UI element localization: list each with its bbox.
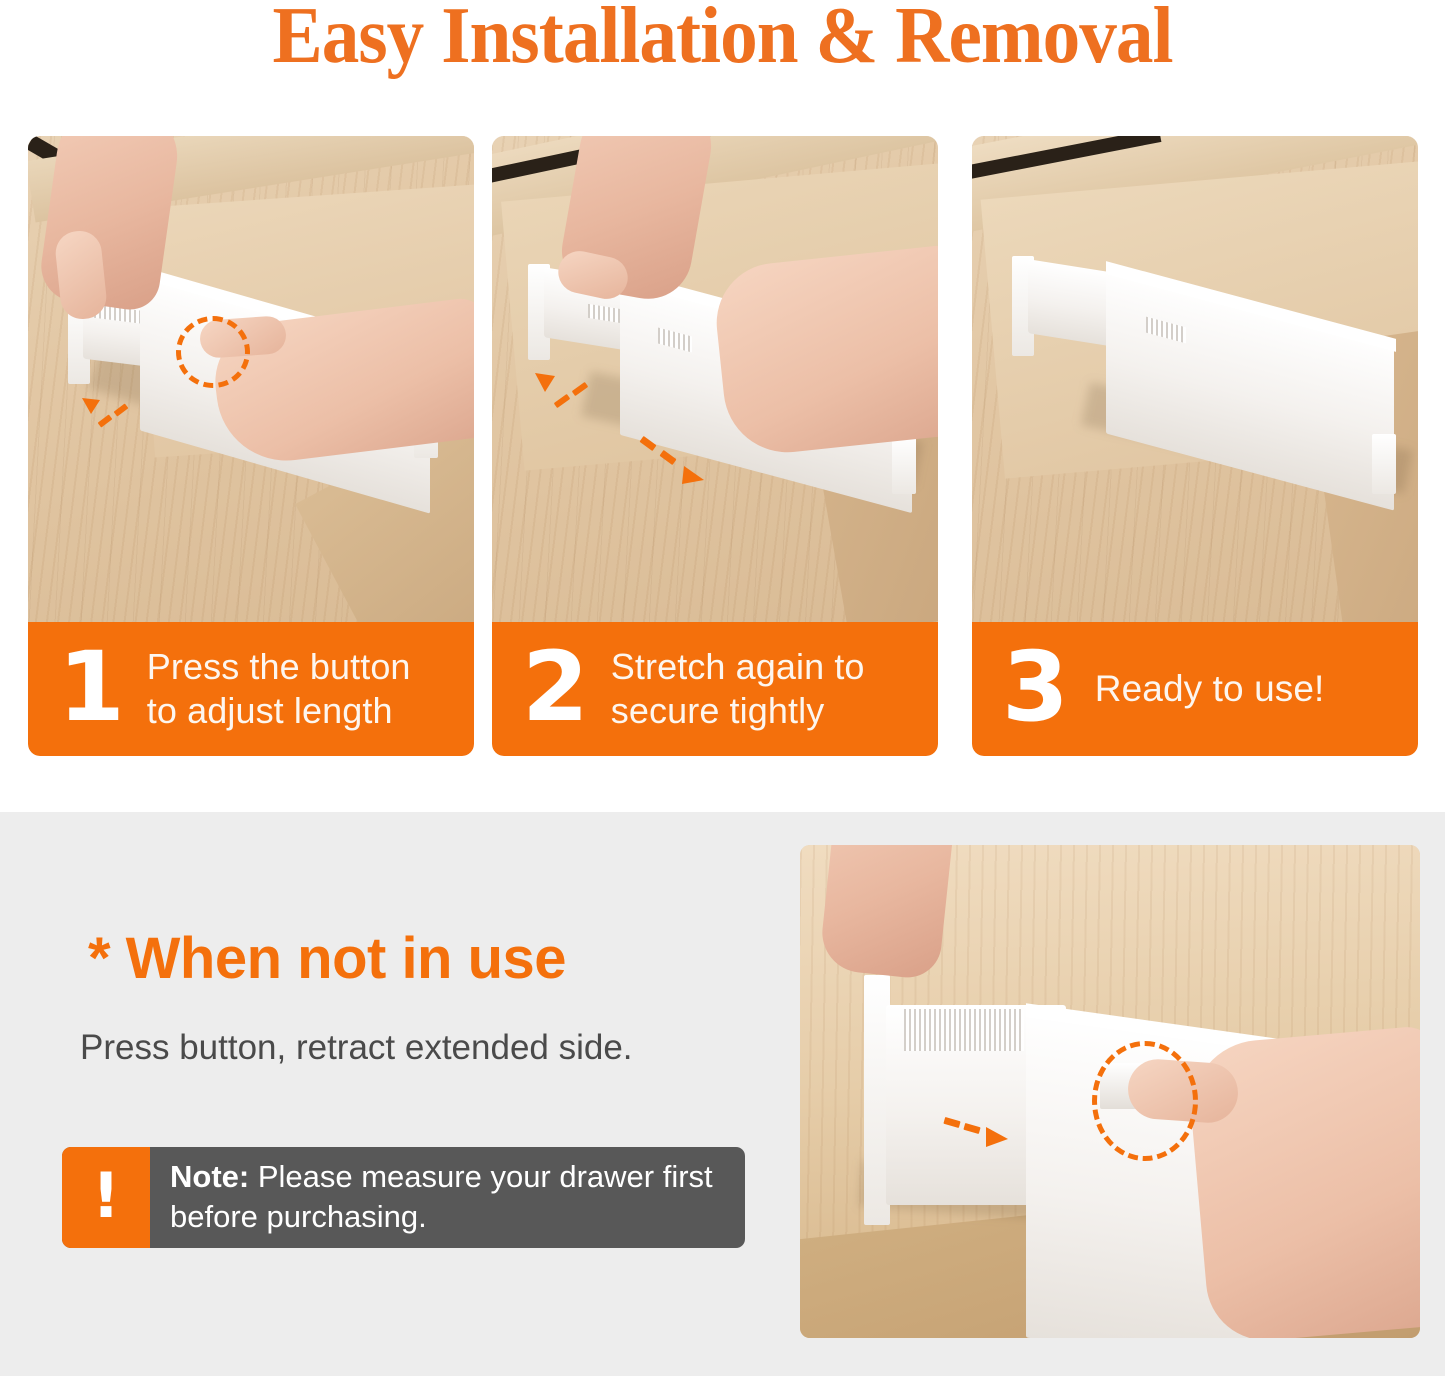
step-card-1: 1 Press the button to adjust length: [28, 136, 474, 756]
step-2-number: 2: [522, 639, 589, 735]
hand-left: [818, 845, 957, 981]
exclamation-icon: !: [62, 1147, 150, 1248]
step-card-2: 2 Stretch again to secure tightly: [492, 136, 938, 756]
retract-photo: [800, 845, 1420, 1338]
note-label: Note:: [170, 1159, 249, 1194]
hand-right: [711, 243, 938, 458]
dashed-circle-highlight: [1092, 1041, 1198, 1161]
arrow-head-left: [80, 394, 140, 430]
arrow-head-up-left: [532, 368, 602, 412]
step-3-photo: [972, 136, 1418, 622]
dashed-circle-highlight: [176, 316, 250, 388]
step-2-photo: [492, 136, 938, 622]
when-not-in-use-title: * When not in use: [88, 925, 566, 992]
dashed-arrow-left: [80, 394, 140, 430]
arrow-head-down-right: [638, 434, 722, 490]
dashed-arrow-up-left: [532, 368, 602, 412]
dashed-arrow-down-right: [638, 434, 722, 490]
arrow-head-right: [940, 1103, 1026, 1149]
when-not-in-use-subtitle: Press button, retract extended side.: [80, 1028, 633, 1068]
dashed-arrow-right: [940, 1103, 1026, 1149]
step-1-caption: Press the button to adjust length: [147, 645, 411, 733]
page-title: Easy Installation & Removal: [43, 0, 1401, 76]
divider-teeth: [904, 1009, 1024, 1051]
step-3-number: 3: [1002, 639, 1069, 735]
note-text: Note: Please measure your drawer first b…: [150, 1147, 745, 1248]
exclamation-glyph: !: [92, 1165, 120, 1227]
step-2-caption: Stretch again to secure tightly: [611, 645, 865, 733]
divider-end-cap-right: [1372, 434, 1396, 494]
note-banner: ! Note: Please measure your drawer first…: [62, 1147, 745, 1248]
note-body: Please measure your drawer first before …: [170, 1159, 713, 1234]
divider-end-cap-right: [892, 436, 916, 494]
step-1-number: 1: [58, 639, 125, 735]
step-3-caption: Ready to use!: [1095, 667, 1325, 711]
step-3-caption-band: 3 Ready to use!: [972, 622, 1418, 756]
step-2-caption-band: 2 Stretch again to secure tightly: [492, 622, 938, 756]
step-1-caption-band: 1 Press the button to adjust length: [28, 622, 474, 756]
step-1-photo: [28, 136, 474, 622]
step-card-3: 3 Ready to use!: [972, 136, 1418, 756]
